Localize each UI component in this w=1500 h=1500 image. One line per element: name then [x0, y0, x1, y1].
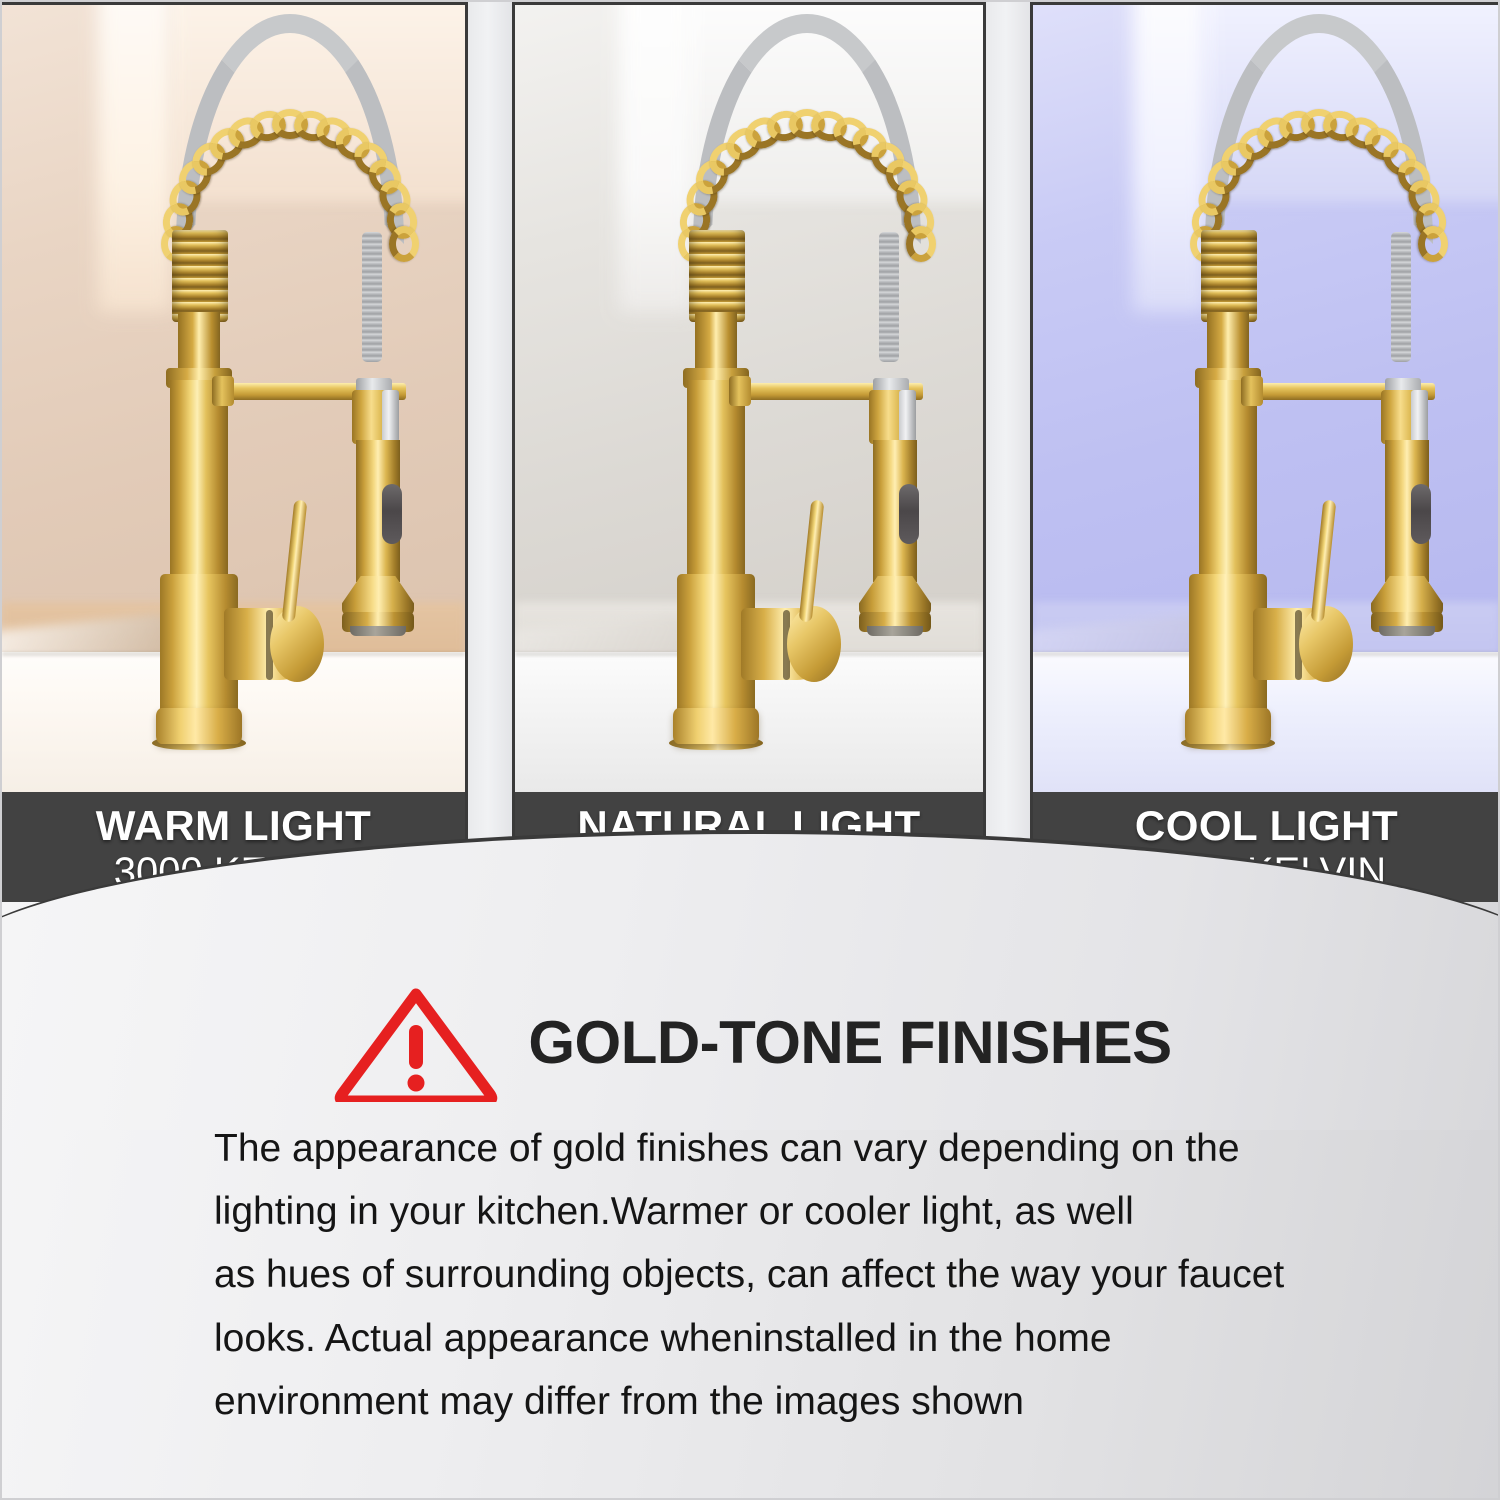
notice-headline: GOLD-TONE FINISHES	[528, 1008, 1171, 1077]
faucet-cool	[1149, 32, 1479, 792]
faucet-neck	[1207, 312, 1249, 372]
scene-natural-light	[515, 2, 983, 792]
notice-line: looks. Actual appearance wheninstalled i…	[214, 1307, 1404, 1370]
braided-hose-descending	[1391, 232, 1411, 362]
faucet-warm	[120, 32, 450, 792]
faucet-natural	[637, 32, 967, 792]
notice-line: The appearance of gold finishes can vary…	[214, 1117, 1404, 1180]
spout-arm-joint	[212, 376, 234, 406]
handle-cap	[1299, 606, 1353, 682]
panel-natural-light: NATURAL LIGHT DAYLIGHT	[512, 2, 986, 902]
braided-hose-descending	[879, 232, 899, 362]
spring-coil-loop	[906, 226, 936, 262]
scene-cool-light	[1033, 2, 1500, 792]
faucet-column-upper	[687, 380, 745, 580]
sprayer-flare	[859, 576, 931, 616]
panel-divider-1	[468, 2, 512, 902]
lever-handle	[1311, 500, 1337, 623]
faucet-column-upper	[170, 380, 228, 580]
sprayer-chrome-strip	[1411, 390, 1428, 442]
sprayer-chrome-strip	[382, 390, 399, 442]
notice-line: environment may differ from the images s…	[214, 1370, 1404, 1433]
panel-warm-light: WARM LIGHT 3000 KELVIN	[2, 2, 468, 902]
handle-cap	[787, 606, 841, 682]
lever-handle	[799, 500, 825, 623]
notice-line: lighting in your kitchen.Warmer or coole…	[214, 1180, 1404, 1243]
spring-coil-stack	[689, 230, 745, 322]
sprayer-flare	[1371, 576, 1443, 616]
sprayer-chrome-strip	[899, 390, 916, 442]
sprayer-nozzle-face	[867, 626, 923, 636]
spring-coil-loop	[389, 226, 419, 262]
lighting-comparison-strip: WARM LIGHT 3000 KELVIN	[2, 2, 1500, 902]
handle-cap	[270, 606, 324, 682]
notice-body-copy: The appearance of gold finishes can vary…	[214, 1117, 1404, 1433]
caption-title: WARM LIGHT	[96, 805, 372, 848]
notice-section: GOLD-TONE FINISHES The appearance of gol…	[2, 962, 1500, 1500]
notice-line: as hues of surrounding objects, can affe…	[214, 1243, 1404, 1306]
braided-hose-descending	[362, 232, 382, 362]
spring-coil-stack	[172, 230, 228, 322]
sprayer-nozzle-face	[1379, 626, 1435, 636]
faucet-base	[1185, 708, 1271, 744]
lever-handle	[282, 500, 308, 623]
faucet-column-upper	[1199, 380, 1257, 580]
sprayer-mode-button	[382, 484, 402, 544]
sprayer-mode-button	[1411, 484, 1431, 544]
sprayer-mode-button	[899, 484, 919, 544]
gold-tone-finishes-infographic: WARM LIGHT 3000 KELVIN	[0, 0, 1500, 1500]
caption-title: COOL LIGHT	[1135, 805, 1398, 848]
panel-divider-2	[986, 2, 1030, 902]
spring-coil-loop	[1418, 226, 1448, 262]
faucet-base	[673, 708, 759, 744]
sprayer-nozzle-face	[350, 626, 406, 636]
notice-headline-row: GOLD-TONE FINISHES	[2, 982, 1500, 1102]
faucet-neck	[695, 312, 737, 372]
panel-cool-light: COOL LIGHT 5500 KELVIN	[1030, 2, 1500, 902]
spring-coil-stack	[1201, 230, 1257, 322]
scene-warm-light	[2, 2, 465, 792]
sprayer-flare	[342, 576, 414, 616]
faucet-base	[156, 708, 242, 744]
warning-triangle-icon	[332, 982, 500, 1102]
spout-arm-joint	[729, 376, 751, 406]
faucet-neck	[178, 312, 220, 372]
spout-arm-joint	[1241, 376, 1263, 406]
